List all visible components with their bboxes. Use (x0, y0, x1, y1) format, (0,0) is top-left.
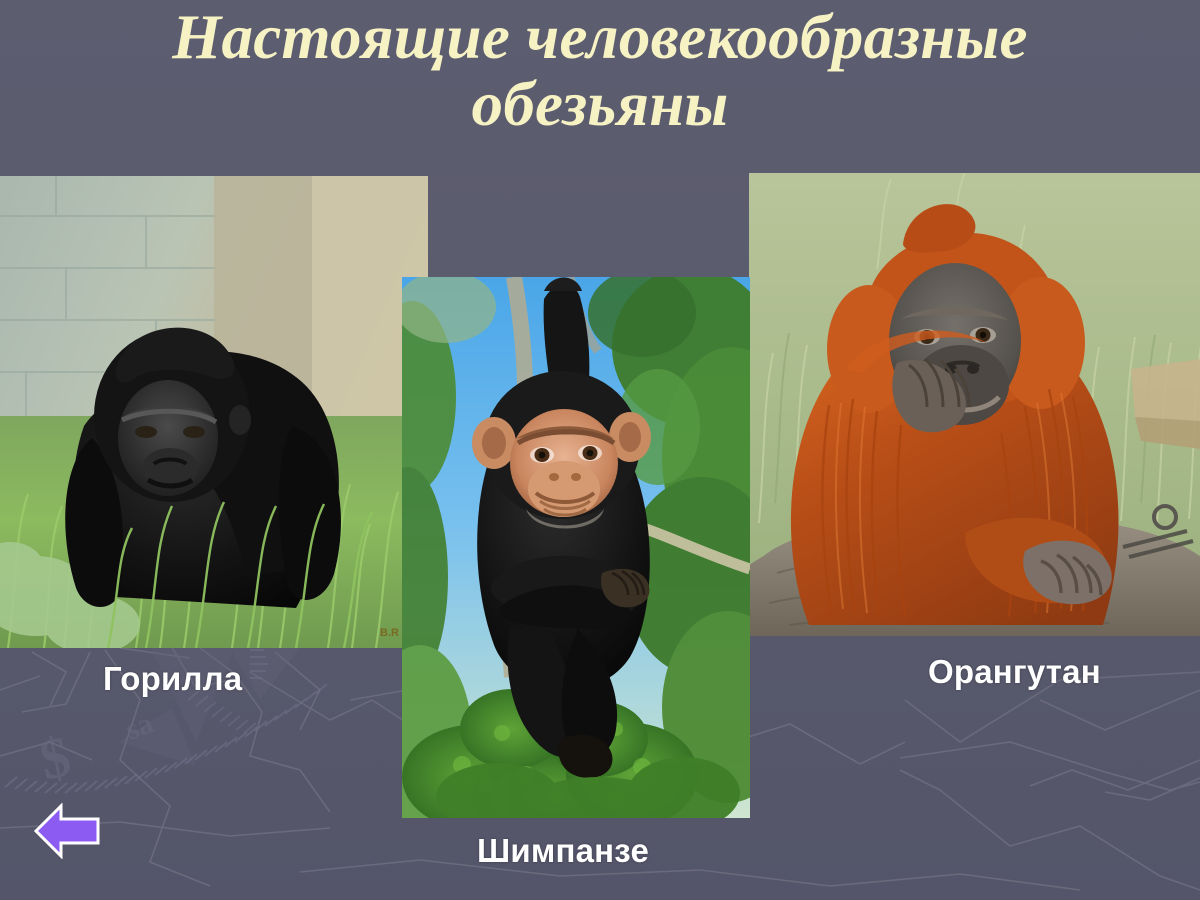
presentation-slide: $ sa Настоящие человекообразные обезьяны (0, 0, 1200, 900)
svg-text:sa: sa (121, 706, 157, 746)
photo-orangutan (749, 173, 1200, 636)
photo-chimpanzee (402, 277, 750, 818)
caption-orangutan: Орангутан (928, 653, 1101, 691)
back-navigation-button[interactable] (33, 803, 101, 859)
svg-text:B.R: B.R (380, 627, 399, 639)
caption-chimpanzee: Шимпанзе (477, 832, 649, 870)
page-title: Настоящие человекообразные обезьяны (0, 4, 1200, 138)
arrow-left-icon[interactable] (33, 803, 101, 859)
caption-gorilla: Горилла (103, 660, 242, 698)
photo-gorilla: B.R (0, 176, 428, 648)
svg-text:$: $ (34, 723, 76, 793)
